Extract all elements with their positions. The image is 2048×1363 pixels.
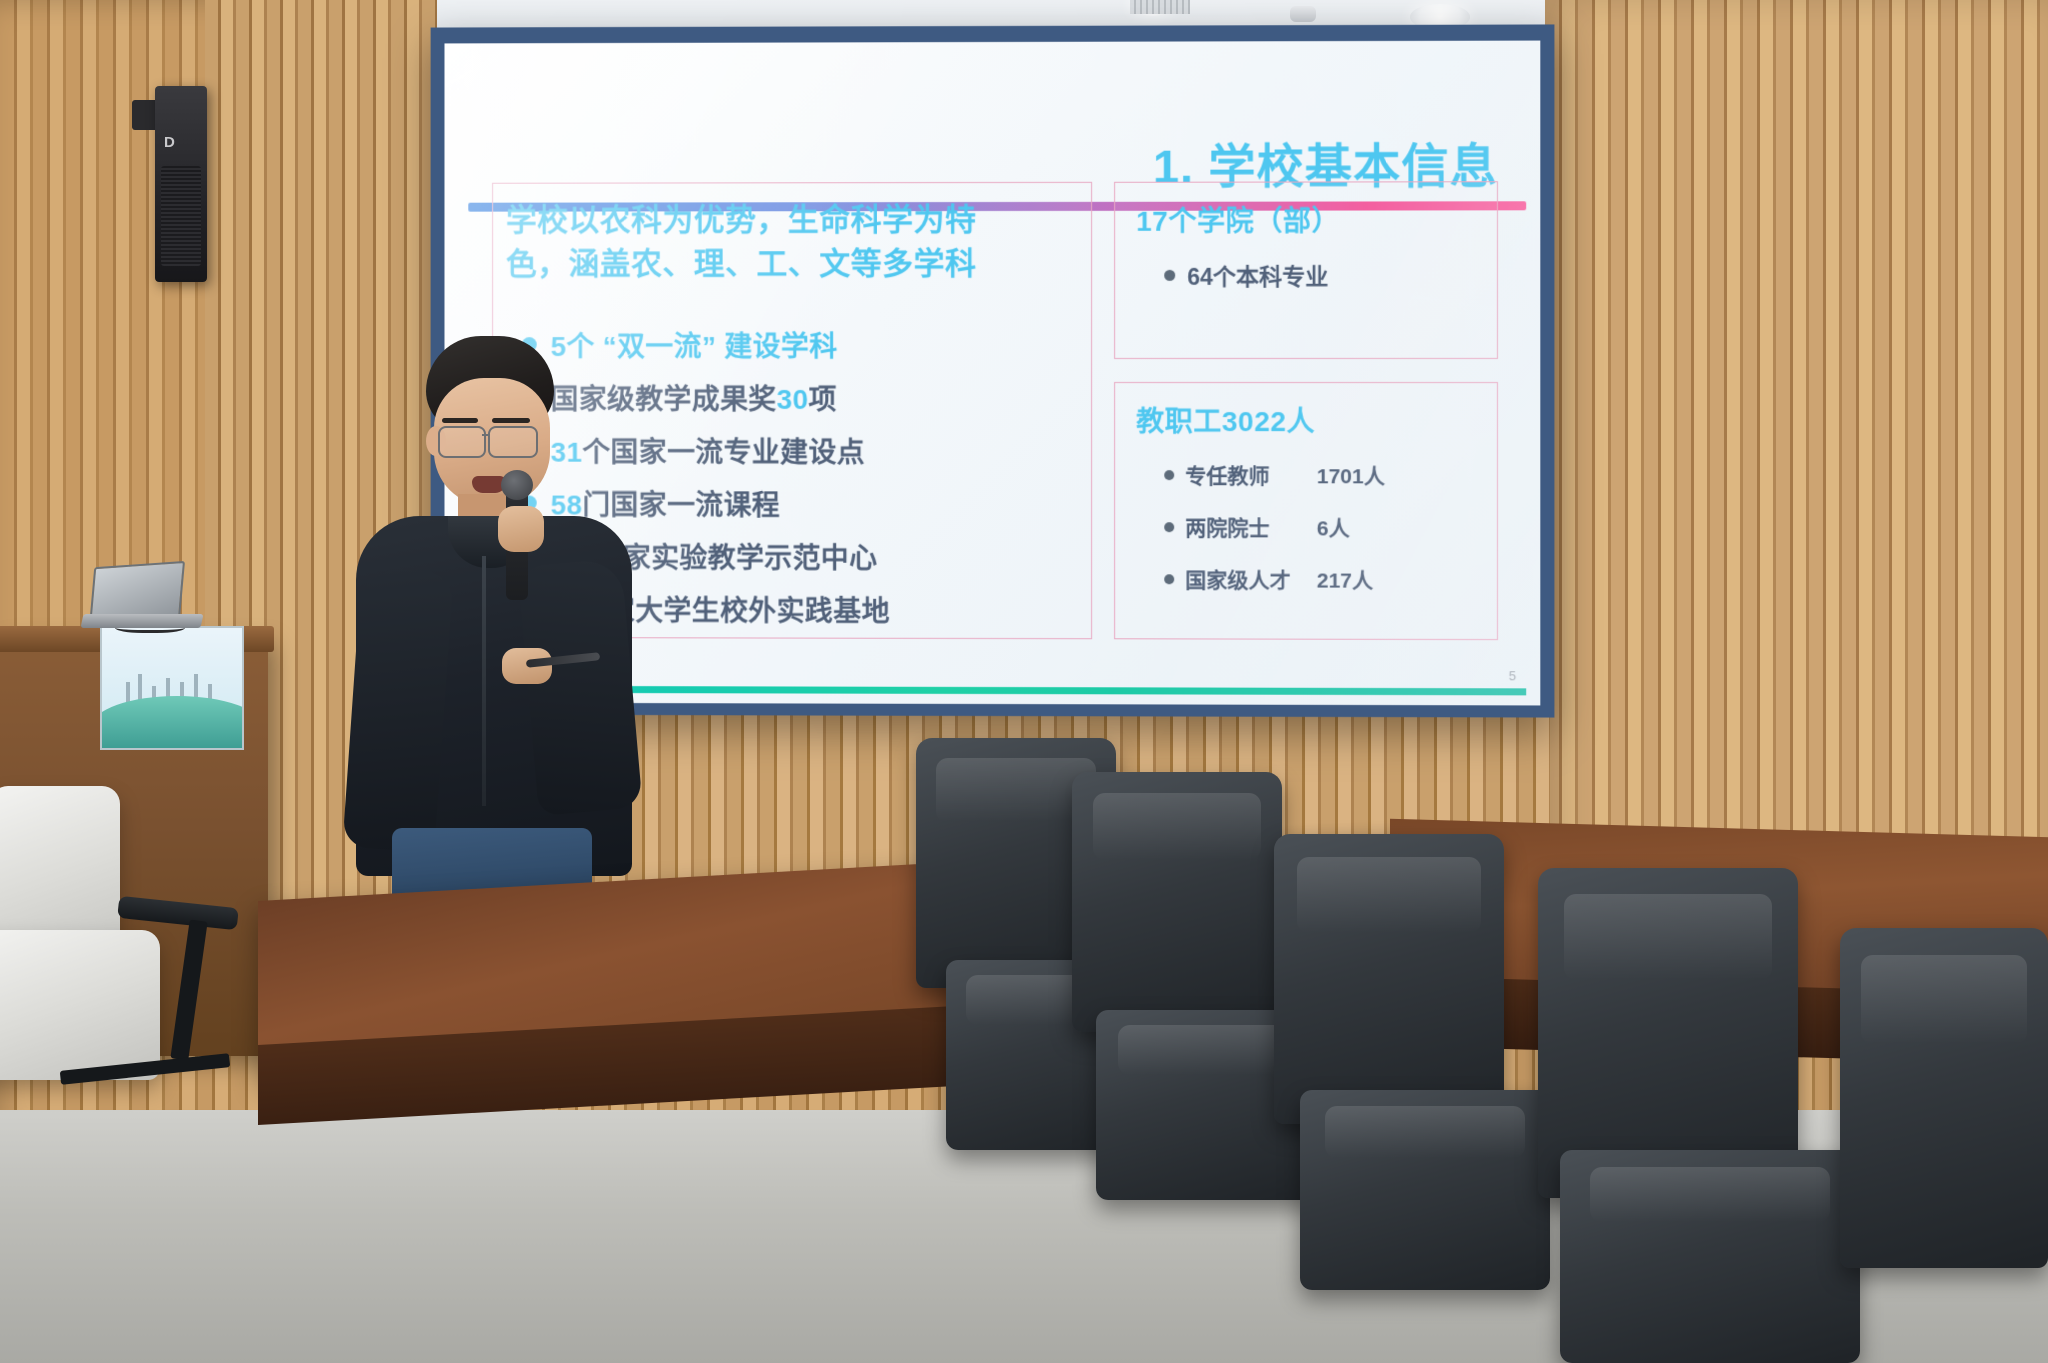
stat-value: 6人 [1317, 512, 1350, 542]
stat-label: 国家级人才 [1185, 564, 1305, 594]
podium-graphic-panel [100, 626, 244, 750]
stat-label: 专任教师 [1185, 460, 1305, 490]
bullet-dot-icon [1164, 470, 1174, 480]
stat-row: 两院院士 6人 [1164, 512, 1349, 542]
presenter-hand-holding-mic [498, 506, 544, 552]
chair-seat [1560, 1150, 1860, 1363]
podium-graphic-hill [100, 696, 244, 748]
majors-label: 64个本科专业 [1187, 258, 1328, 292]
conference-room-scene: D 1. 学校基本信息 学校以农科为优势，生命科学为特 色，涵盖农、理、工、文等… [0, 0, 2048, 1363]
presenter-eyebrow [442, 418, 478, 423]
wall-speaker: D [155, 86, 207, 282]
presenter [330, 330, 650, 890]
speaker-grill [161, 166, 201, 266]
bullet-dot-icon [1164, 269, 1175, 280]
colleges-heading: 17个学院（部） [1136, 200, 1340, 240]
eyeglasses-lens [488, 426, 538, 458]
stat-value: 217人 [1317, 565, 1373, 595]
eyeglasses-bridge [482, 434, 490, 436]
chair [1538, 868, 1798, 1198]
chair-seat [0, 930, 160, 1080]
ceiling-vent [1130, 0, 1190, 14]
bullet-suffix: 项 [808, 383, 836, 414]
stat-value: 1701人 [1317, 460, 1385, 490]
stat-row: 国家级人才 217人 [1164, 564, 1373, 594]
chair [1072, 772, 1282, 1032]
lead-line-2: 色，涵盖农、理、工、文等多学科 [506, 242, 1082, 286]
jacket-zipper [482, 556, 486, 806]
bullet-dot-icon [1164, 522, 1174, 532]
bullet-dot-icon [1164, 574, 1174, 584]
left-box-lead-text: 学校以农科为优势，生命科学为特 色，涵盖农、理、工、文等多学科 [506, 198, 1082, 286]
stat-row: 专任教师 1701人 [1164, 460, 1385, 490]
slide-footer-bar [556, 686, 1527, 695]
smoke-detector-icon [1290, 6, 1316, 22]
microphone-head-icon [501, 470, 533, 500]
slide-page-number: 5 [1509, 668, 1516, 683]
speaker-brand-label: D [164, 134, 175, 151]
chair [1274, 834, 1504, 1124]
majors-sub-item: 64个本科专业 [1164, 258, 1328, 292]
chair-seat [1300, 1090, 1550, 1290]
staff-heading: 教职工3022人 [1136, 400, 1315, 440]
eyeglasses-lens [438, 426, 486, 458]
lead-line-1: 学校以农科为优势，生命科学为特 [506, 198, 1082, 243]
laptop-cable [115, 620, 185, 633]
chair [1840, 928, 2048, 1268]
presenter-arm-left [342, 567, 453, 853]
bullet-highlight: 30 [777, 383, 809, 414]
presenter-arm-right [517, 558, 642, 816]
presenter-eyebrow [492, 418, 530, 423]
stat-label: 两院院士 [1185, 512, 1305, 542]
